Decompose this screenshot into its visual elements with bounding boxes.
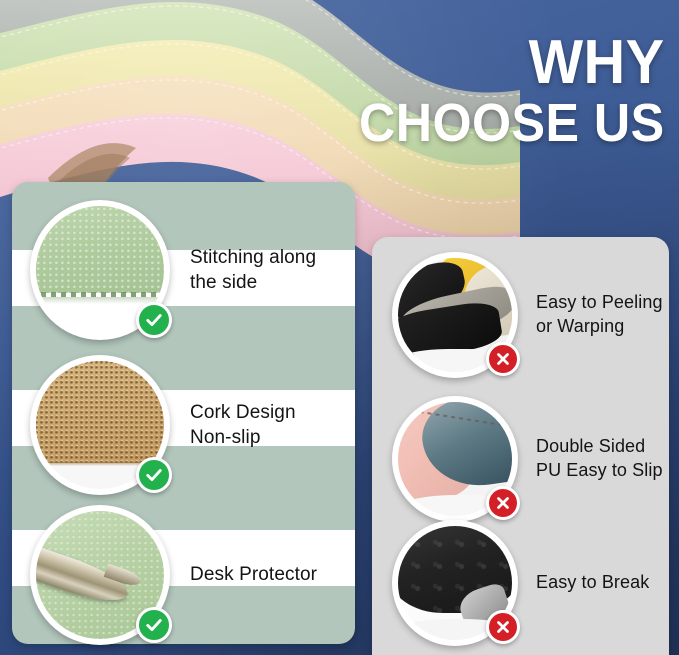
check-circle-icon — [136, 302, 172, 338]
pros-label-1: Stitching along the side — [190, 245, 316, 296]
headline-line-1: WHY — [359, 34, 665, 93]
pros-row-1: Stitching along the side — [30, 200, 360, 340]
headline-line-2: CHOOSE US — [359, 93, 665, 153]
pros-thumb-3 — [30, 505, 170, 645]
cons-row-3: Easy to Break — [392, 520, 672, 646]
cons-thumb-3 — [392, 520, 518, 646]
cross-circle-icon — [486, 610, 520, 644]
cross-circle-icon — [486, 486, 520, 520]
cons-label-1: Easy to Peeling or Warping — [536, 291, 663, 339]
pros-thumb-1 — [30, 200, 170, 340]
cross-circle-icon — [486, 342, 520, 376]
cons-label-3: Easy to Break — [536, 571, 649, 595]
cons-thumb-1 — [392, 252, 518, 378]
cons-label-2: Double Sided PU Easy to Slip — [536, 435, 663, 483]
cons-row-1: Easy to Peeling or Warping — [392, 252, 672, 378]
check-circle-icon — [136, 607, 172, 643]
cons-row-2: Double Sided PU Easy to Slip — [392, 396, 672, 522]
pros-label-3: Desk Protector — [190, 562, 317, 587]
pros-row-2: Cork Design Non-slip — [30, 355, 360, 495]
cons-thumb-2 — [392, 396, 518, 522]
page-title: WHY CHOOSE US — [336, 34, 665, 153]
pros-label-2: Cork Design Non-slip — [190, 400, 296, 451]
promo-graphic: WHY CHOOSE US Stitching along the side — [0, 0, 679, 655]
pros-row-3: Desk Protector — [30, 505, 360, 645]
check-circle-icon — [136, 457, 172, 493]
pros-thumb-2 — [30, 355, 170, 495]
